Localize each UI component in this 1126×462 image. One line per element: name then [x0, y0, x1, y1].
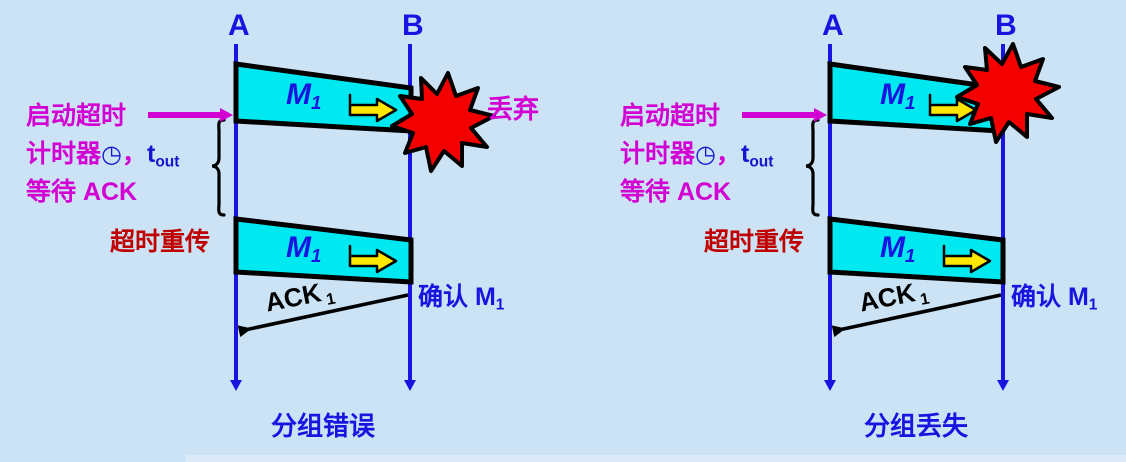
timer-line-left: 计时器◷，tout: [26, 142, 179, 170]
timer-prefix-right: 计时器: [620, 140, 695, 168]
ack-confirm-label-left: 确认 M1: [418, 285, 504, 313]
packet-1-label-right: M1: [880, 80, 915, 113]
ack-confirm-label-right: 确认 M1: [1011, 285, 1097, 313]
timeout-brace-right: [806, 120, 818, 215]
ack-confirm-sub-right: 1: [1089, 296, 1098, 313]
timeout-variable-sub-right: out: [749, 153, 773, 170]
packet-1-name-left: M: [286, 78, 311, 111]
packet-1-label-left: M1: [286, 80, 321, 113]
packet-2-sub-right: 1: [905, 245, 915, 266]
wait-ack-label-left: 等待 ACK: [26, 180, 137, 205]
retransmit-label-left: 超时重传: [110, 230, 210, 255]
discard-label-left: 丢弃: [487, 96, 539, 122]
caption-left: 分组错误: [271, 413, 375, 439]
ack-confirm-text-right: 确认 M: [1011, 283, 1089, 311]
endpoint-label-a-left: A: [228, 11, 250, 41]
packet-2-right: [830, 219, 1003, 282]
timer-comma-left: ，: [122, 140, 147, 168]
endpoint-label-a-right: A: [822, 11, 844, 41]
retransmit-label-right: 超时重传: [704, 230, 804, 255]
timer-prefix-left: 计时器: [26, 140, 101, 168]
packet-1-name-right: M: [880, 78, 905, 111]
packet-2-label-right: M1: [880, 233, 915, 266]
wait-ack-label-right: 等待 ACK: [620, 180, 731, 205]
packet-1-left: [236, 64, 411, 131]
bottom-strip: [186, 455, 1126, 462]
endpoint-label-b-right: B: [995, 11, 1017, 41]
clock-icon: ◷: [695, 141, 716, 168]
packet-1-sub-right: 1: [905, 92, 915, 113]
ack-confirm-sub-left: 1: [496, 296, 505, 313]
endpoint-label-b-left: B: [402, 11, 424, 41]
start-timer-label-left: 启动超时: [26, 104, 126, 129]
caption-right: 分组丢失: [864, 413, 968, 439]
packet-2-label-left: M1: [286, 233, 321, 266]
diagram-canvas: A B 启动超时 计时器◷，tout 等待 ACK 超时重传 丢弃 M1 M1 …: [0, 0, 1126, 462]
timeout-variable-sub-left: out: [155, 153, 179, 170]
timeout-brace-left: [212, 120, 224, 215]
start-timer-label-right: 启动超时: [620, 104, 720, 129]
timer-line-right: 计时器◷，tout: [620, 142, 773, 170]
packet-1-sub-left: 1: [311, 92, 321, 113]
packet-2-sub-left: 1: [311, 245, 321, 266]
timer-comma-right: ，: [716, 140, 741, 168]
packet-2-left: [236, 219, 411, 282]
ack-confirm-text-left: 确认 M: [418, 283, 496, 311]
clock-icon: ◷: [101, 141, 122, 168]
packet-2-name-right: M: [880, 231, 905, 264]
packet-2-name-left: M: [286, 231, 311, 264]
